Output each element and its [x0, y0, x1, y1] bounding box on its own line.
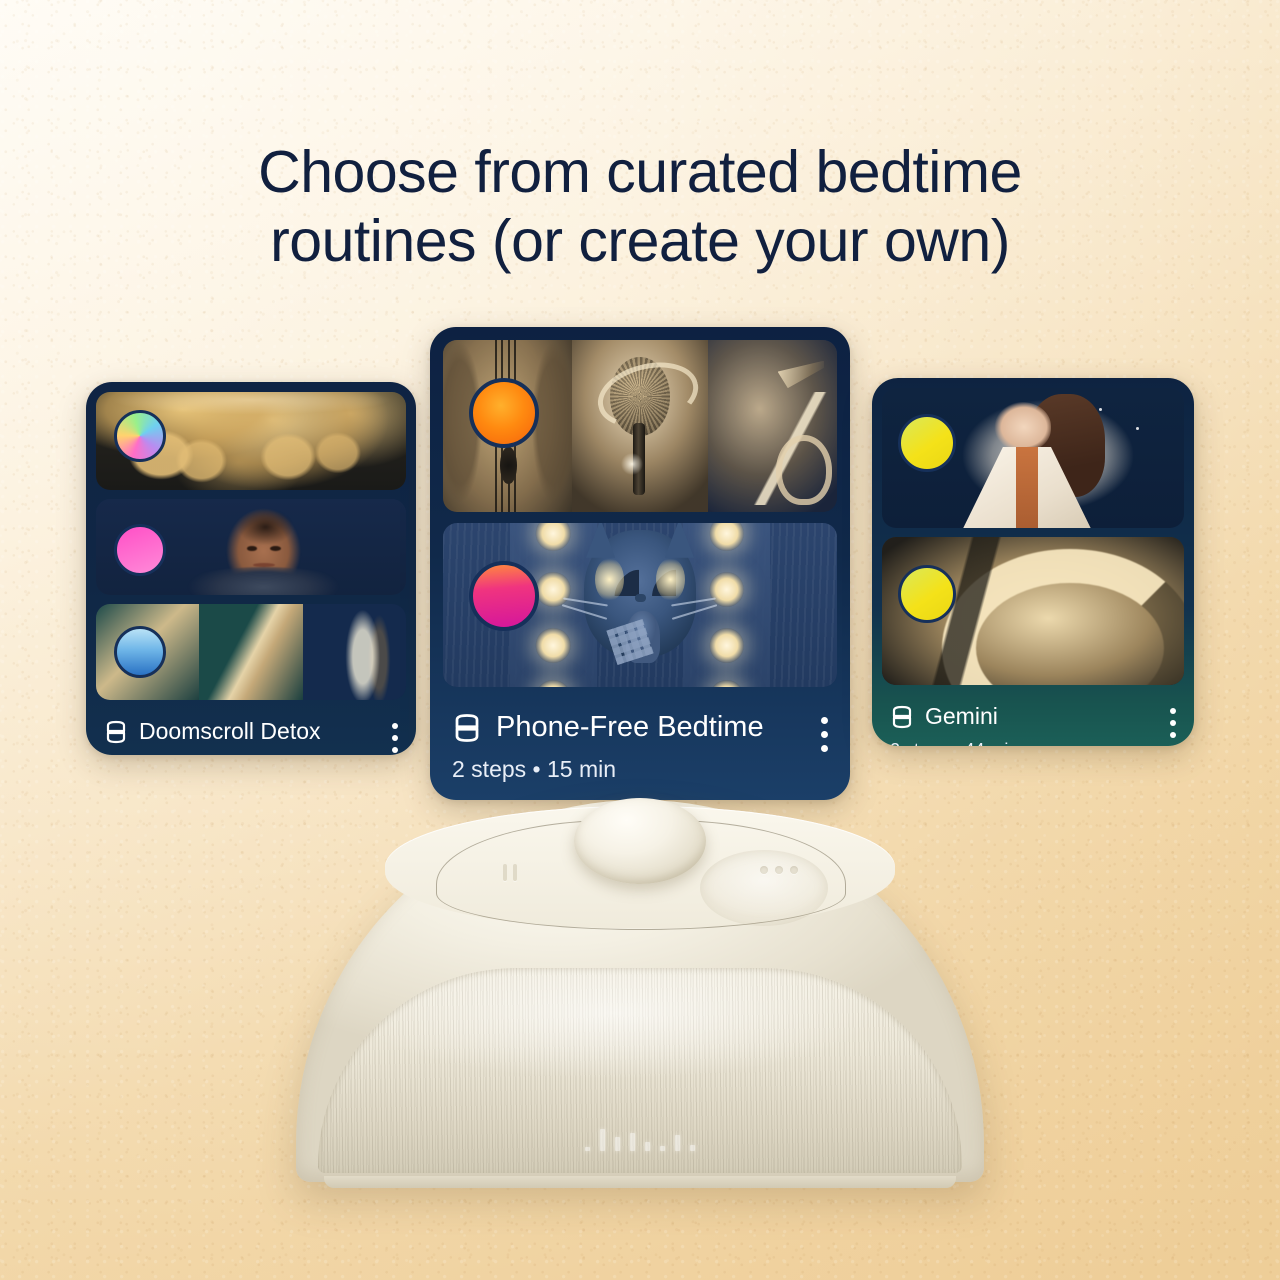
bedside-speaker-device	[296, 800, 984, 1182]
card-artwork-tiles	[86, 382, 416, 700]
magenta-gradient-dot	[469, 561, 539, 631]
google-home-icon	[104, 720, 128, 744]
card-title-row: Doomscroll Detox	[104, 718, 398, 745]
card-meta: Phone-Free Bedtime 2 steps • 15 min	[430, 687, 850, 800]
yellow-gradient-dot	[898, 565, 956, 623]
pause-icon[interactable]	[503, 864, 517, 881]
artwork-microphone	[572, 340, 708, 512]
routine-card-doomscroll-detox[interactable]: Doomscroll Detox 3 steps • 40 min	[86, 382, 416, 755]
artwork-tile-cat	[443, 523, 837, 687]
card-title-row: Phone-Free Bedtime	[452, 711, 828, 744]
kebab-menu-icon[interactable]	[392, 723, 398, 753]
card-title: Gemini	[925, 703, 998, 730]
yellow-gradient-dot	[898, 414, 956, 472]
card-title: Phone-Free Bedtime	[496, 711, 764, 744]
promo-stage: Choose from curated bedtime routines (or…	[0, 0, 1280, 1280]
kebab-menu-icon[interactable]	[1170, 708, 1176, 738]
card-title: Doomscroll Detox	[139, 718, 321, 745]
routine-card-gemini[interactable]: Gemini 2 steps • 44 min	[872, 378, 1194, 746]
pink-gradient-dot	[114, 524, 166, 576]
artwork-bird	[708, 340, 837, 512]
rainbow-gradient-dot	[114, 410, 166, 462]
card-subtitle: 2 steps • 15 min	[452, 756, 828, 783]
card-meta: Gemini 2 steps • 44 min	[872, 685, 1194, 746]
card-artwork-tiles	[430, 327, 850, 687]
artwork-tile-gemini-portrait	[882, 388, 1184, 528]
artwork-tile-honey	[96, 392, 406, 490]
portrait-face	[214, 505, 313, 595]
google-home-icon	[890, 705, 914, 729]
led-dot-matrix-display	[585, 1129, 695, 1151]
card-meta: Doomscroll Detox 3 steps • 40 min	[86, 700, 416, 755]
rotary-dial-knob[interactable]	[574, 798, 706, 884]
volume-touch-area[interactable]	[700, 850, 828, 926]
artwork-tile-portrait	[96, 499, 406, 595]
linen-fabric-speaker-grille	[318, 968, 962, 1173]
orange-gradient-dot	[469, 378, 539, 448]
speaker-base	[324, 1176, 957, 1188]
google-home-icon	[452, 713, 482, 743]
artwork-tile-abstract-strips	[96, 604, 406, 700]
kebab-menu-icon[interactable]	[821, 717, 828, 752]
card-title-row: Gemini	[890, 703, 1176, 730]
card-subtitle: 2 steps • 44 min	[890, 740, 1176, 746]
card-artwork-tiles	[872, 378, 1194, 685]
artwork-tile-dune-arc	[882, 537, 1184, 685]
page-title: Choose from curated bedtime routines (or…	[0, 138, 1280, 277]
artwork-tile-instruments	[443, 340, 837, 512]
routine-card-phone-free-bedtime[interactable]: Phone-Free Bedtime 2 steps • 15 min	[430, 327, 850, 800]
volume-dots-icon[interactable]	[760, 866, 798, 874]
blue-gradient-dot	[114, 626, 166, 678]
artwork-cat-with-heart-glasses	[557, 523, 722, 687]
